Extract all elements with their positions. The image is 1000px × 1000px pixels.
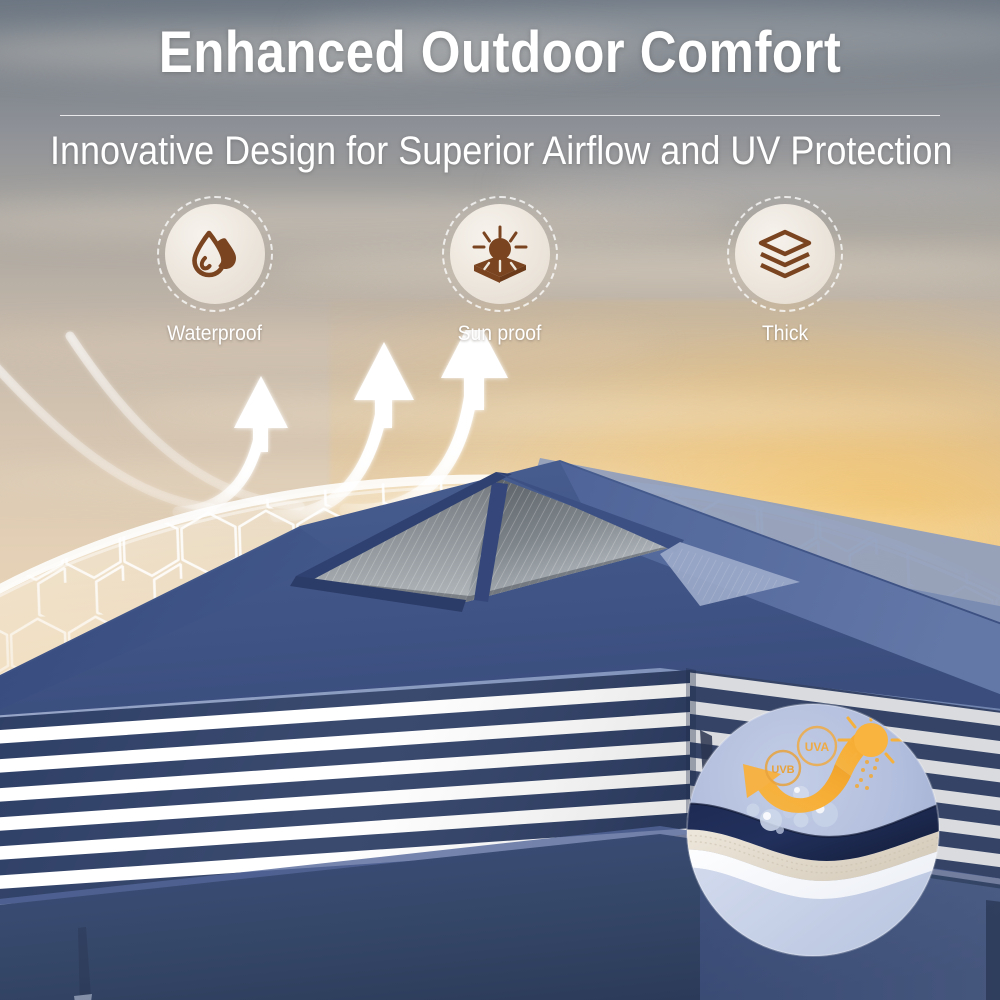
stacked-layers-icon xyxy=(756,227,814,281)
page-subtitle: Innovative Design for Superior Airflow a… xyxy=(50,128,950,174)
feature-label: Sun proof xyxy=(458,322,542,346)
feature-thick: Thick xyxy=(690,196,880,346)
feature-icon-disc xyxy=(450,204,550,304)
feature-label: Waterproof xyxy=(168,322,263,346)
water-drop-icon xyxy=(186,225,244,283)
feature-icon-ring xyxy=(157,196,273,312)
feature-list: Waterproof xyxy=(120,196,880,346)
feature-label: Thick xyxy=(762,322,808,346)
feature-icon-ring xyxy=(442,196,558,312)
feature-waterproof: Waterproof xyxy=(120,196,310,346)
uva-label: UVA xyxy=(805,740,830,754)
title-divider xyxy=(60,115,940,116)
feature-icon-disc xyxy=(735,204,835,304)
uvb-label: UVB xyxy=(771,764,794,776)
product-feature-banner: UVB UVA xyxy=(0,0,1000,1000)
feature-icon-disc xyxy=(165,204,265,304)
feature-icon-ring xyxy=(727,196,843,312)
uv-protection-badge: UVB UVA xyxy=(685,702,941,958)
feature-sun-proof: Sun proof xyxy=(405,196,595,346)
sun-over-fabric-icon xyxy=(470,225,530,283)
page-title: Enhanced Outdoor Comfort xyxy=(60,24,940,82)
